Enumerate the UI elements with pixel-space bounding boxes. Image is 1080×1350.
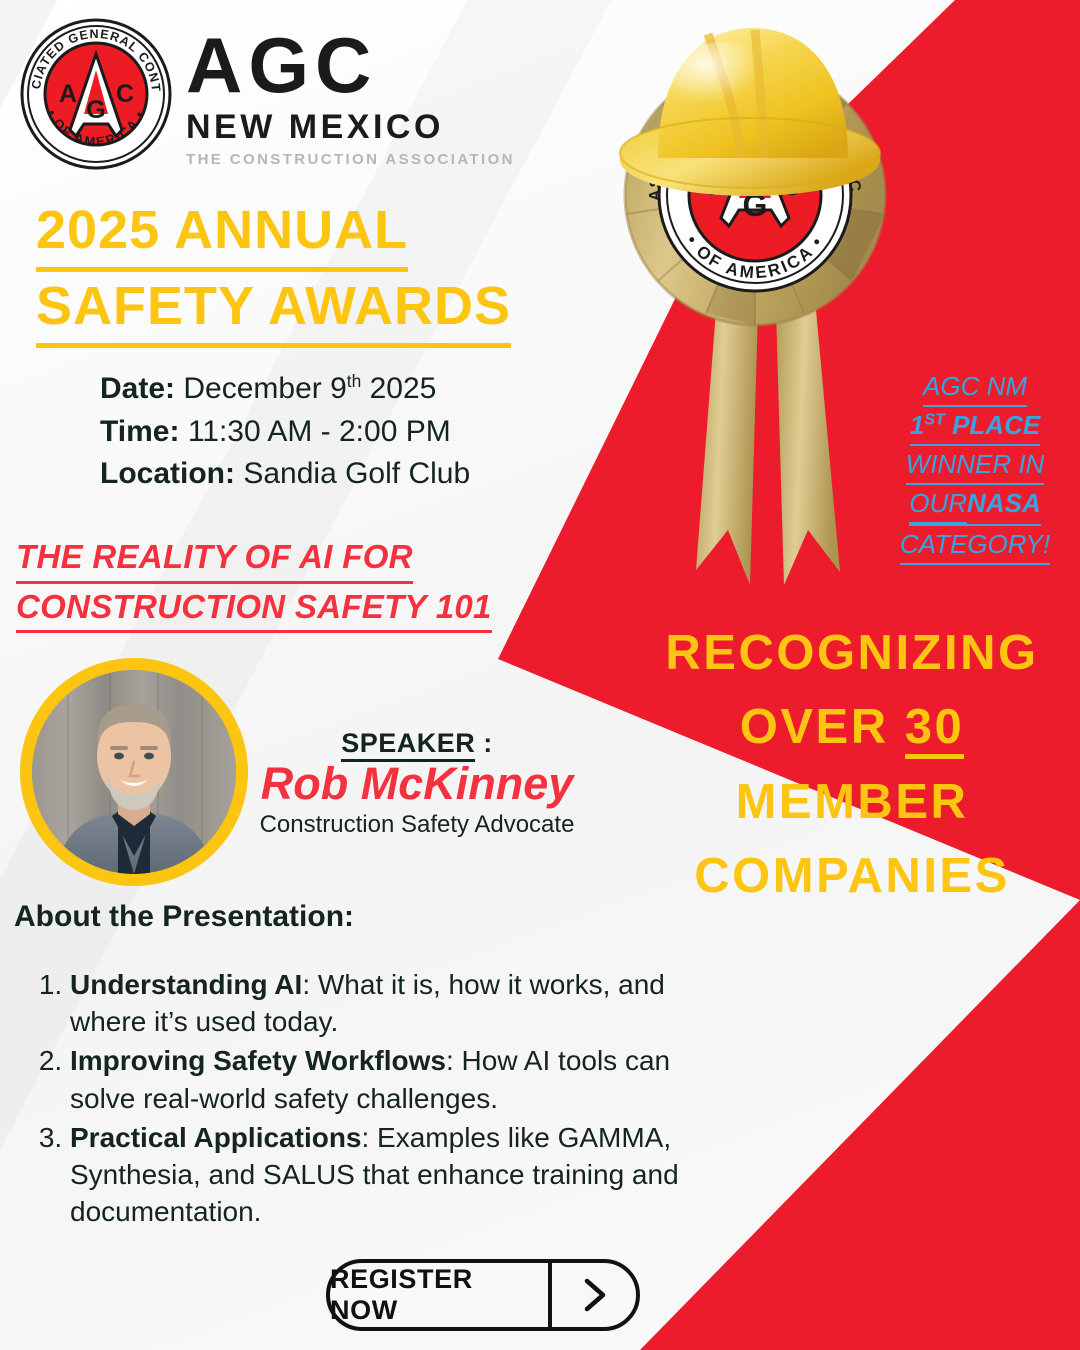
chevron-right-icon xyxy=(552,1263,636,1327)
award-note-line-2: 1ST PLACE xyxy=(910,407,1040,446)
award-note-place-num: 1 xyxy=(910,410,924,440)
award-note-place-text: PLACE xyxy=(945,410,1040,440)
svg-text:G: G xyxy=(86,96,105,124)
about-heading: About the Presentation: xyxy=(14,900,354,934)
award-note-nasa: NASA xyxy=(967,488,1041,518)
page-title: 2025 ANNUAL SAFETY AWARDS xyxy=(36,196,636,348)
register-now-button[interactable]: REGISTER NOW xyxy=(326,1259,640,1331)
list-item-bold: Practical Applications xyxy=(70,1122,362,1153)
speaker-info: SPEAKER : Rob McKinney Construction Safe… xyxy=(252,728,582,839)
headline-line-1: 2025 ANNUAL xyxy=(36,196,408,272)
recognizing-count: 30 xyxy=(905,700,965,759)
topic-line-1: THE REALITY OF AI FOR xyxy=(16,534,413,584)
speaker-label: SPEAKER : xyxy=(252,728,582,759)
recognizing-line-3: MEMBER xyxy=(628,765,1076,839)
recognizing-line-4: COMPANIES xyxy=(628,839,1076,913)
event-detail-time: Time: 11:30 AM - 2:00 PM xyxy=(100,411,620,454)
speaker-photo xyxy=(20,658,248,886)
avatar xyxy=(32,670,236,874)
speaker-role: Construction Safety Advocate xyxy=(252,811,582,839)
award-note-our: OUR xyxy=(909,485,967,524)
event-detail-date-value: December 9 xyxy=(183,372,346,405)
event-detail-location: Location: Sandia Golf Club xyxy=(100,453,620,496)
recognizing-line-1: RECOGNIZING xyxy=(628,616,1076,690)
logo-wordmark: AGC NEW MEXICO THE CONSTRUCTION ASSOCIAT… xyxy=(186,22,515,167)
award-note-line-3: WINNER IN xyxy=(906,446,1045,485)
svg-text:A: A xyxy=(59,80,77,108)
event-detail-time-value: 11:30 AM - 2:00 PM xyxy=(188,415,451,448)
event-detail-date-label: Date: xyxy=(100,372,175,405)
svg-text:C: C xyxy=(116,80,134,108)
recognizing-headline: RECOGNIZING OVER 30 MEMBER COMPANIES xyxy=(628,616,1076,914)
speaker-name: Rob McKinney xyxy=(252,760,582,809)
event-details: Date: December 9th 2025 Time: 11:30 AM -… xyxy=(100,368,620,496)
event-detail-time-label: Time: xyxy=(100,415,179,448)
list-item-bold: Improving Safety Workflows xyxy=(70,1045,446,1076)
recognizing-line-2: OVER 30 xyxy=(628,690,1076,764)
agc-seal-icon: THE ASSOCIATED GENERAL CONTRACTORS • OF … xyxy=(20,18,172,170)
event-detail-date-sup: th xyxy=(347,371,362,391)
award-note-line-4: OUR NASA xyxy=(909,485,1040,526)
register-now-label: REGISTER NOW xyxy=(330,1263,548,1327)
list-item: Understanding AI: What it is, how it wor… xyxy=(70,966,696,1040)
headline-line-2: SAFETY AWARDS xyxy=(36,272,511,348)
award-winner-note: AGC NM 1ST PLACE WINNER IN OUR NASA CATE… xyxy=(872,368,1078,565)
award-note-line-1: AGC NM xyxy=(923,368,1027,407)
flyer-canvas: THE ASSOCIATED GENERAL CONTRACTORS • OF … xyxy=(0,0,1080,1350)
event-detail-location-label: Location: xyxy=(100,457,235,490)
logo-main-text: AGC xyxy=(186,26,515,104)
list-item: Improving Safety Workflows: How AI tools… xyxy=(70,1042,696,1116)
about-list: Understanding AI: What it is, how it wor… xyxy=(36,966,696,1233)
speaker-label-text: SPEAKER xyxy=(341,728,475,762)
list-item-bold: Understanding AI xyxy=(70,969,302,1000)
award-note-place-sup: ST xyxy=(924,410,945,428)
topic-line-2: CONSTRUCTION SAFETY 101 xyxy=(16,584,492,634)
event-detail-location-value: Sandia Golf Club xyxy=(243,457,470,490)
recognizing-over: OVER xyxy=(740,700,905,754)
presentation-topic: THE REALITY OF AI FOR CONSTRUCTION SAFET… xyxy=(16,534,556,633)
list-item: Practical Applications: Examples like GA… xyxy=(70,1119,696,1231)
event-detail-date-year: 2025 xyxy=(361,372,436,405)
logo-region-text: NEW MEXICO xyxy=(186,110,515,144)
event-detail-date: Date: December 9th 2025 xyxy=(100,368,620,411)
award-note-line-5: CATEGORY! xyxy=(900,526,1050,565)
agc-logo-lockup: THE ASSOCIATED GENERAL CONTRACTORS • OF … xyxy=(20,18,515,170)
speaker-photo-inner xyxy=(32,670,236,874)
logo-tagline-text: THE CONSTRUCTION ASSOCIATION xyxy=(186,152,515,167)
speaker-label-colon: : xyxy=(475,728,493,758)
